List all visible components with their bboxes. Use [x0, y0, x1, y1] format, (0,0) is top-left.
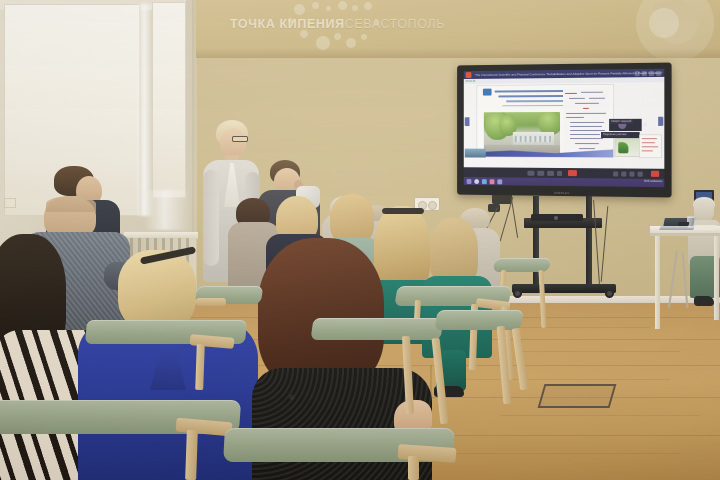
next-page-arrow-icon[interactable] [658, 117, 663, 126]
conference-app-icon [466, 72, 472, 78]
start-menu-icon[interactable] [467, 179, 472, 184]
screen-share-icon[interactable] [547, 170, 554, 175]
chair-leg-front [185, 430, 198, 480]
tv-stand-column-right [586, 196, 592, 292]
document-thumbnail[interactable] [640, 135, 662, 157]
white-side-table-leg-back [714, 236, 719, 320]
chair-back-row2-right[interactable] [310, 318, 443, 340]
recording-timer: 00:41:25 [466, 80, 476, 83]
os-taskbar[interactable]: RUS conference [464, 177, 665, 187]
head-hair [330, 194, 374, 244]
chair-back-right-mid[interactable] [434, 310, 524, 330]
browser-icon[interactable] [482, 179, 487, 184]
wall-display-panel[interactable]: The International Scientific and Practic… [457, 63, 671, 198]
taskbar-language-indicator[interactable]: RUS conference [644, 180, 662, 183]
slide-thumbnail-strip[interactable] [465, 149, 486, 158]
self-view-thumbnail[interactable] [615, 139, 639, 156]
head-hair [258, 238, 384, 388]
boiling-point-flame-logo [636, 0, 714, 58]
close-icon[interactable] [656, 70, 661, 75]
chair-leg-front [408, 456, 419, 480]
side-table-person-head [694, 200, 714, 222]
shared-presentation-slide [477, 85, 613, 158]
camera-toggle-icon[interactable] [537, 170, 544, 175]
chair-arm [196, 298, 226, 306]
leave-meeting-button[interactable] [651, 171, 659, 177]
participants-icon[interactable] [613, 171, 618, 176]
conference-camera[interactable] [531, 214, 583, 221]
display-brand-label: DISPLAY [554, 191, 569, 195]
handwritten-notes-page [563, 89, 609, 155]
wall-plate-left[interactable] [4, 198, 16, 208]
institution-logo [483, 89, 492, 96]
minimize-icon[interactable] [635, 71, 640, 76]
venue-banner: ТОЧКА КИПЕНИЯСЕВАСТОПОЛЬ [196, 0, 720, 58]
glasses-icon [232, 136, 248, 142]
smartphone[interactable] [678, 222, 690, 226]
microphone-toggle-icon[interactable] [528, 170, 535, 175]
building-facade [513, 132, 554, 145]
vc-shared-content-stage: Говорит: ведущий Подключен участник [464, 82, 665, 169]
presenter-face [220, 128, 246, 158]
settings-gear-icon[interactable] [638, 171, 643, 176]
tv-stand-base-bar [512, 284, 616, 293]
conference-room-photograph: ТОЧКА КИПЕНИЯСЕВАСТОПОЛЬ [0, 0, 720, 480]
maximize-icon[interactable] [642, 70, 647, 75]
mouse-cursor-icon [644, 122, 648, 127]
window-buttons[interactable] [635, 70, 662, 75]
participant-tile-speaker-label: Говорит: ведущий [609, 119, 633, 124]
sunglasses-on-head-icon [382, 208, 424, 214]
presenter-left-arm [203, 170, 219, 266]
more-options-icon[interactable] [557, 170, 562, 175]
head-top-shading [46, 196, 96, 212]
institution-building-photo [484, 112, 560, 154]
banner-title-sub: СЕВАСТОПОЛЬ [345, 17, 445, 31]
end-call-button[interactable] [568, 170, 577, 176]
chair-leg [195, 344, 205, 390]
display-screen[interactable]: The International Scientific and Practic… [464, 69, 665, 187]
chat-icon[interactable] [621, 171, 626, 176]
white-side-table-edge [650, 233, 720, 236]
banner-title: ТОЧКА КИПЕНИЯСЕВАСТОПОЛЬ [230, 17, 445, 31]
window-light-lower [144, 190, 190, 230]
participant-tile-secondary-label: Подключен участник [601, 132, 628, 137]
app-icon-pink[interactable] [490, 179, 495, 184]
white-side-table-leg-front [655, 236, 660, 329]
restore-icon[interactable] [649, 70, 654, 75]
raise-hand-icon[interactable] [629, 171, 634, 176]
banner-title-main: ТОЧКА КИПЕНИЯ [230, 17, 345, 31]
stand-caster-right [605, 289, 614, 298]
app-icon-violet[interactable] [497, 179, 502, 184]
search-icon[interactable] [474, 179, 479, 184]
papers [693, 225, 716, 230]
prev-page-arrow-icon[interactable] [465, 117, 470, 126]
floor-socket-hatch[interactable] [538, 384, 617, 408]
stand-caster-left [513, 289, 522, 298]
roller-blind-right [152, 2, 186, 198]
side-table-person-shoe [694, 296, 714, 306]
